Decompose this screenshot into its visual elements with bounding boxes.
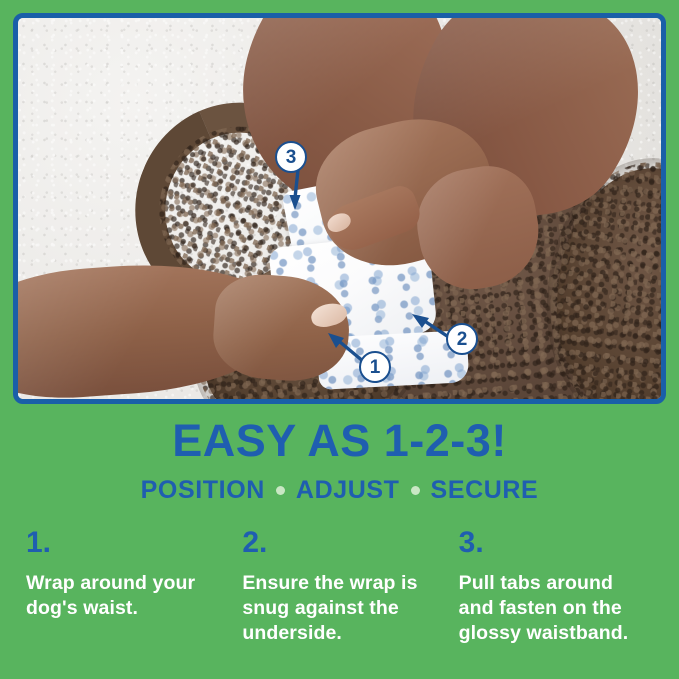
callout-badge-2: 2: [446, 323, 478, 355]
callout-badge-3: 3: [275, 141, 307, 173]
product-photo: 3 1 2: [18, 18, 661, 399]
step-item-1: 1. Wrap around your dog's waist.: [26, 528, 220, 673]
step-item-3: 3. Pull tabs around and fasten on the gl…: [459, 528, 653, 673]
headline: EASY AS 1-2-3!: [0, 418, 679, 463]
subheadline-part-adjust: ADJUST: [296, 478, 400, 503]
bullet-dot-icon: [276, 486, 285, 495]
steps-list: 1. Wrap around your dog's waist. 2. Ensu…: [0, 528, 679, 673]
step-description: Pull tabs around and fasten on the gloss…: [459, 571, 653, 646]
step-item-2: 2. Ensure the wrap is snug against the u…: [242, 528, 436, 673]
subheadline-part-secure: SECURE: [431, 478, 539, 503]
product-photo-frame: 3 1 2: [13, 13, 666, 404]
step-number: 3.: [459, 528, 653, 558]
subheadline-part-position: POSITION: [141, 478, 265, 503]
step-number: 1.: [26, 528, 220, 558]
bullet-dot-icon: [411, 486, 420, 495]
step-description: Ensure the wrap is snug against the unde…: [242, 571, 436, 646]
callout-badge-1: 1: [359, 351, 391, 383]
promo-poster: 3 1 2 EASY AS 1-2-3! POSITION ADJUST SEC…: [0, 0, 679, 679]
step-number: 2.: [242, 528, 436, 558]
subheadline: POSITION ADJUST SECURE: [0, 478, 679, 503]
step-description: Wrap around your dog's waist.: [26, 571, 220, 621]
